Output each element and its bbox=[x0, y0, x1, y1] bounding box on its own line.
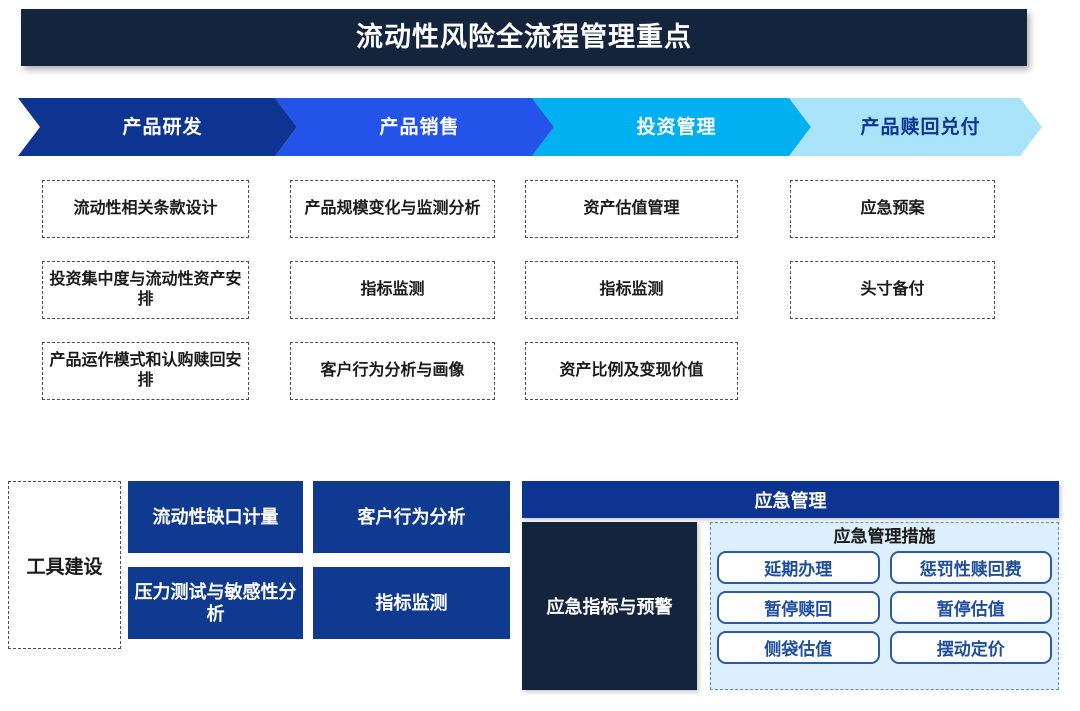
detail-item[interactable]: 投资集中度与流动性资产安排 bbox=[42, 261, 249, 319]
process-stage-2[interactable]: 产品销售 bbox=[275, 98, 554, 156]
emergency-measures-title: 应急管理措施 bbox=[717, 527, 1052, 547]
emergency-panel-header: 应急管理 bbox=[522, 481, 1059, 518]
process-stage-4-label: 产品赎回兑付 bbox=[850, 118, 980, 137]
emergency-measure-pill[interactable]: 惩罚性赎回费 bbox=[890, 551, 1053, 584]
tool-item[interactable]: 压力测试与敏感性分析 bbox=[128, 567, 303, 639]
detail-item[interactable]: 头寸备付 bbox=[790, 261, 995, 319]
page-title: 流动性风险全流程管理重点 bbox=[356, 24, 692, 51]
emergency-measure-pill[interactable]: 摆动定价 bbox=[890, 631, 1053, 664]
emergency-management-panel: 应急管理 应急指标与预警 应急管理措施 延期办理 惩罚性赎回费 暂停赎回 暂停估… bbox=[522, 481, 1059, 690]
detail-item[interactable]: 应急预案 bbox=[790, 180, 995, 238]
emergency-measure-pill[interactable]: 延期办理 bbox=[717, 551, 880, 584]
process-stage-3-label: 投资管理 bbox=[626, 118, 716, 137]
emergency-measure-pill[interactable]: 暂停估值 bbox=[890, 591, 1053, 624]
emergency-measure-pill[interactable]: 暂停赎回 bbox=[717, 591, 880, 624]
detail-item[interactable]: 指标监测 bbox=[290, 261, 495, 319]
process-stage-2-label: 产品销售 bbox=[369, 118, 459, 137]
detail-column-3: 资产估值管理 指标监测 资产比例及变现价值 bbox=[525, 180, 738, 423]
tool-item[interactable]: 流动性缺口计量 bbox=[128, 481, 303, 553]
tools-section-label: 工具建设 bbox=[8, 481, 121, 649]
tools-grid: 流动性缺口计量 客户行为分析 压力测试与敏感性分析 指标监测 bbox=[128, 481, 510, 649]
detail-item[interactable]: 客户行为分析与画像 bbox=[290, 342, 495, 400]
page-title-bar: 流动性风险全流程管理重点 bbox=[21, 9, 1027, 66]
detail-column-1: 流动性相关条款设计 投资集中度与流动性资产安排 产品运作模式和认购赎回安排 bbox=[42, 180, 249, 423]
process-stage-1[interactable]: 产品研发 bbox=[18, 98, 297, 156]
emergency-indicator-block[interactable]: 应急指标与预警 bbox=[522, 522, 697, 690]
tools-section: 工具建设 流动性缺口计量 客户行为分析 压力测试与敏感性分析 指标监测 bbox=[0, 481, 512, 649]
detail-item[interactable]: 产品规模变化与监测分析 bbox=[290, 180, 495, 238]
emergency-measure-pill[interactable]: 侧袋估值 bbox=[717, 631, 880, 664]
detail-column-4: 应急预案 头寸备付 bbox=[790, 180, 995, 342]
emergency-measures-grid: 延期办理 惩罚性赎回费 暂停赎回 暂停估值 侧袋估值 摆动定价 bbox=[717, 551, 1052, 664]
detail-item[interactable]: 流动性相关条款设计 bbox=[42, 180, 249, 238]
detail-item[interactable]: 资产估值管理 bbox=[525, 180, 738, 238]
tool-item[interactable]: 客户行为分析 bbox=[313, 481, 510, 553]
detail-item[interactable]: 产品运作模式和认购赎回安排 bbox=[42, 342, 249, 400]
process-stage-1-label: 产品研发 bbox=[112, 118, 202, 137]
process-stage-3[interactable]: 投资管理 bbox=[532, 98, 811, 156]
process-stage-4[interactable]: 产品赎回兑付 bbox=[789, 98, 1042, 156]
process-flow-band: 产品研发 产品销售 投资管理 产品赎回兑付 bbox=[0, 98, 1080, 156]
emergency-measures-panel: 应急管理措施 延期办理 惩罚性赎回费 暂停赎回 暂停估值 侧袋估值 摆动定价 bbox=[710, 522, 1059, 690]
tool-item[interactable]: 指标监测 bbox=[313, 567, 510, 639]
detail-item[interactable]: 指标监测 bbox=[525, 261, 738, 319]
detail-item[interactable]: 资产比例及变现价值 bbox=[525, 342, 738, 400]
detail-column-2: 产品规模变化与监测分析 指标监测 客户行为分析与画像 bbox=[290, 180, 495, 423]
slide-canvas: 流动性风险全流程管理重点 产品研发 产品销售 投资管理 产品赎回兑付 流动性相关… bbox=[0, 0, 1080, 711]
process-detail-columns: 流动性相关条款设计 投资集中度与流动性资产安排 产品运作模式和认购赎回安排 产品… bbox=[0, 180, 1080, 415]
